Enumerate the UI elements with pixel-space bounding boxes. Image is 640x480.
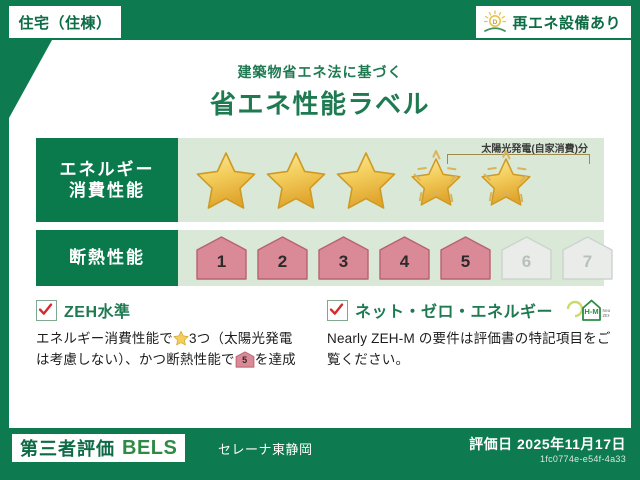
bels-jp-label: 第三者評価	[20, 435, 115, 461]
energy-performance-label: 住宅（住棟） D 再エネ設備あり 建築物省エネ法に基づく 省エネ性能ラベル	[0, 0, 640, 480]
zeh-desc-mid: は考慮しない）、かつ断熱性能で	[36, 352, 235, 367]
checkbox-checked	[36, 300, 57, 321]
check-icon	[38, 302, 53, 317]
insulation-grade-house: 3	[316, 235, 371, 281]
building-name: セレーナ東静岡	[218, 439, 313, 458]
energy-performance-row: エネルギー 消費性能 太陽光発電(自家消費)分	[36, 138, 604, 222]
zeh-standard-heading: ZEH水準	[36, 298, 320, 322]
house-type-tag: 住宅（住棟）	[9, 6, 121, 38]
star-filled	[194, 149, 258, 211]
inline-grade-number: 5	[235, 354, 255, 368]
insulation-grade-number: 6	[499, 252, 554, 272]
zeh-desc-stars: 3つ（太陽光発電	[189, 331, 293, 346]
energy-label-line2: 消費性能	[69, 180, 145, 201]
nearly-zeh-m-logo-icon: H-M Nearly ZEH-M	[564, 297, 610, 323]
insulation-grade-number: 7	[560, 252, 615, 272]
zeh-desc-post: を達成	[255, 352, 296, 367]
energy-stars-area: 太陽光発電(自家消費)分	[178, 138, 604, 222]
insulation-performance-row: 断熱性能 1 2 3	[36, 230, 604, 286]
renewable-badge-label: 再エネ設備あり	[512, 12, 621, 33]
star-solar	[404, 149, 468, 211]
zeh-standard-description: エネルギー消費性能で3つ（太陽光発電は考慮しない）、かつ断熱性能で5を達成	[36, 329, 320, 371]
zeh-standard-title: ZEH水準	[64, 298, 131, 322]
footer-band: 第三者評価 BELS セレーナ東静岡 評価日 2025年11月17日 1fc07…	[0, 428, 640, 480]
star-filled	[264, 149, 328, 211]
checkbox-checked	[327, 300, 348, 321]
check-icon	[329, 302, 344, 317]
energy-label-line1: エネルギー	[60, 159, 155, 180]
label-subtitle: 建築物省エネ法に基づく	[9, 62, 631, 82]
label-title: 省エネ性能ラベル	[9, 84, 631, 121]
insulation-grade-house: 7	[560, 235, 615, 281]
net-zero-energy-title: ネット・ゼロ・エネルギー	[355, 298, 553, 322]
sun-solar-icon: D	[482, 10, 508, 34]
insulation-grade-number: 4	[377, 252, 432, 272]
evaluation-date: 評価日 2025年11月17日	[469, 434, 626, 454]
insulation-grade-number: 1	[194, 252, 249, 272]
svg-text:D: D	[493, 19, 498, 26]
insulation-grade-scale: 1 2 3 4	[178, 230, 604, 286]
label-card: 建築物省エネ法に基づく 省エネ性能ラベル エネルギー 消費性能 太陽光発電(自家…	[9, 40, 631, 428]
bels-en-label: BELS	[122, 437, 177, 460]
svg-text:ZEH-M: ZEH-M	[603, 313, 611, 318]
insulation-grade-number: 3	[316, 252, 371, 272]
insulation-grade-house: 6	[499, 235, 554, 281]
insulation-grade-number: 5	[438, 252, 493, 272]
insulation-grade-number: 2	[255, 252, 310, 272]
insulation-grade-house: 1	[194, 235, 249, 281]
renewable-equipment-badge: D 再エネ設備あり	[476, 6, 631, 38]
house-type-tag-label: 住宅（住棟）	[18, 12, 111, 33]
star-filled	[334, 149, 398, 211]
insulation-performance-label-block: 断熱性能	[36, 230, 178, 286]
insulation-grades-area: 1 2 3 4	[178, 230, 604, 286]
zeh-standard-block: ZEH水準 エネルギー消費性能で3つ（太陽光発電は考慮しない）、かつ断熱性能で5…	[36, 298, 320, 371]
inline-grade-house-icon: 5	[235, 351, 255, 368]
insulation-grade-house: 4	[377, 235, 432, 281]
star-rating	[178, 138, 604, 222]
net-zero-energy-heading: ネット・ゼロ・エネルギー H-M Nearly ZEH-M	[327, 298, 611, 322]
insulation-grade-house: 5	[438, 235, 493, 281]
energy-performance-label-block: エネルギー 消費性能	[36, 138, 178, 222]
star-solar	[474, 149, 538, 211]
inline-star-icon	[173, 330, 189, 346]
bels-certification-box: 第三者評価 BELS	[12, 434, 185, 462]
net-zero-energy-description: Nearly ZEH-M の要件は評価書の特記項目をご覧ください。	[327, 329, 611, 371]
svg-text:H-M: H-M	[584, 307, 598, 316]
zeh-desc-pre: エネルギー消費性能で	[36, 331, 173, 346]
insulation-label: 断熱性能	[69, 247, 145, 268]
insulation-grade-house: 2	[255, 235, 310, 281]
evaluation-id: 1fc0774e-e54f-4a33	[540, 454, 626, 464]
net-zero-energy-block: ネット・ゼロ・エネルギー H-M Nearly ZEH-M Nearly ZEH…	[327, 298, 611, 371]
